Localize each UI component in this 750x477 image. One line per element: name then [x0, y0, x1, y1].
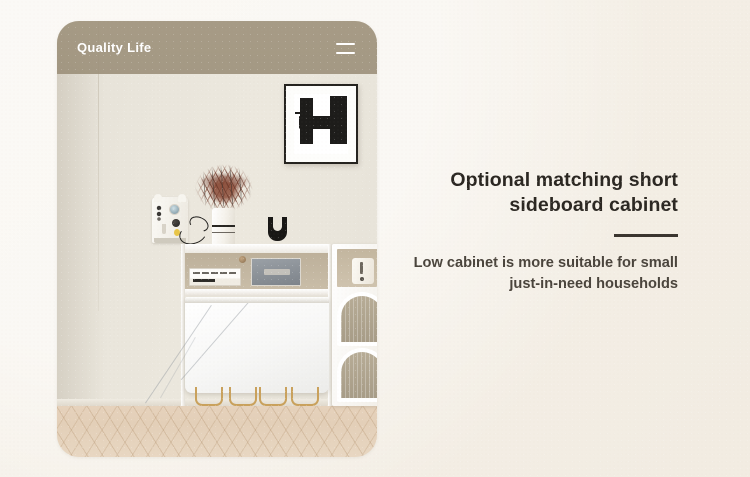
cabinet-top-rail: [181, 244, 332, 253]
marketing-copy: Optional matching short sideboard cabine…: [392, 168, 678, 295]
table-leg: [259, 387, 287, 406]
espresso-spout: [162, 224, 166, 234]
espresso-top-left-curve: [154, 194, 162, 202]
cabinet-knob: [239, 256, 246, 263]
page-title: Optional matching short sideboard cabine…: [392, 168, 678, 218]
box-label: [264, 269, 290, 275]
herringbone-wood-floor: [57, 406, 377, 457]
pressure-gauge-icon: [169, 204, 180, 215]
arched-glass-door-upper: [337, 292, 377, 346]
espresso-knobs: [156, 205, 163, 221]
vase-stripe: [212, 225, 235, 227]
product-photo-card: [57, 21, 377, 457]
grey-decorative-box: [251, 258, 301, 286]
hamburger-menu-icon[interactable]: [336, 42, 355, 54]
table-leg: [229, 387, 257, 406]
header-bar: Quality Life: [57, 21, 377, 74]
book-text-line: [193, 272, 237, 274]
title-divider: [614, 234, 678, 237]
page-subtitle: Low cabinet is more suitable for small j…: [392, 253, 678, 295]
vase-stripe: [212, 232, 235, 233]
framed-abstract-artwork: [284, 84, 358, 164]
sideboard-cabinet: [181, 244, 377, 406]
hamburger-line: [336, 43, 355, 45]
marble-folding-table-panel: [185, 297, 329, 393]
books-on-shelf: [189, 268, 241, 286]
toaster: [352, 258, 374, 284]
toaster-knob: [360, 277, 364, 281]
tall-cabinet-open-shelf: [337, 249, 377, 287]
book-text-line: [193, 279, 215, 282]
arched-glass-door-lower: [337, 348, 377, 402]
table-leg: [291, 387, 319, 406]
hamburger-line: [336, 52, 355, 54]
table-leg: [195, 387, 223, 406]
artwork-canvas: [294, 94, 348, 154]
marble-vein: [181, 301, 250, 380]
art-shape-icon: [295, 112, 307, 114]
black-u-ornament: [268, 217, 287, 241]
tall-side-cabinet: [332, 244, 377, 406]
gold-table-legs: [195, 385, 321, 406]
toaster-slot: [360, 262, 363, 274]
brand-logo-text[interactable]: Quality Life: [77, 40, 151, 55]
espresso-dial: [172, 219, 180, 227]
cabinet-shelf-plate: [181, 289, 332, 296]
marble-panel-top-edge: [185, 297, 329, 303]
page-root: Quality Life Optional matching short sid…: [0, 0, 750, 477]
espresso-top-right-curve: [178, 194, 186, 202]
art-shape-icon: [299, 116, 347, 129]
